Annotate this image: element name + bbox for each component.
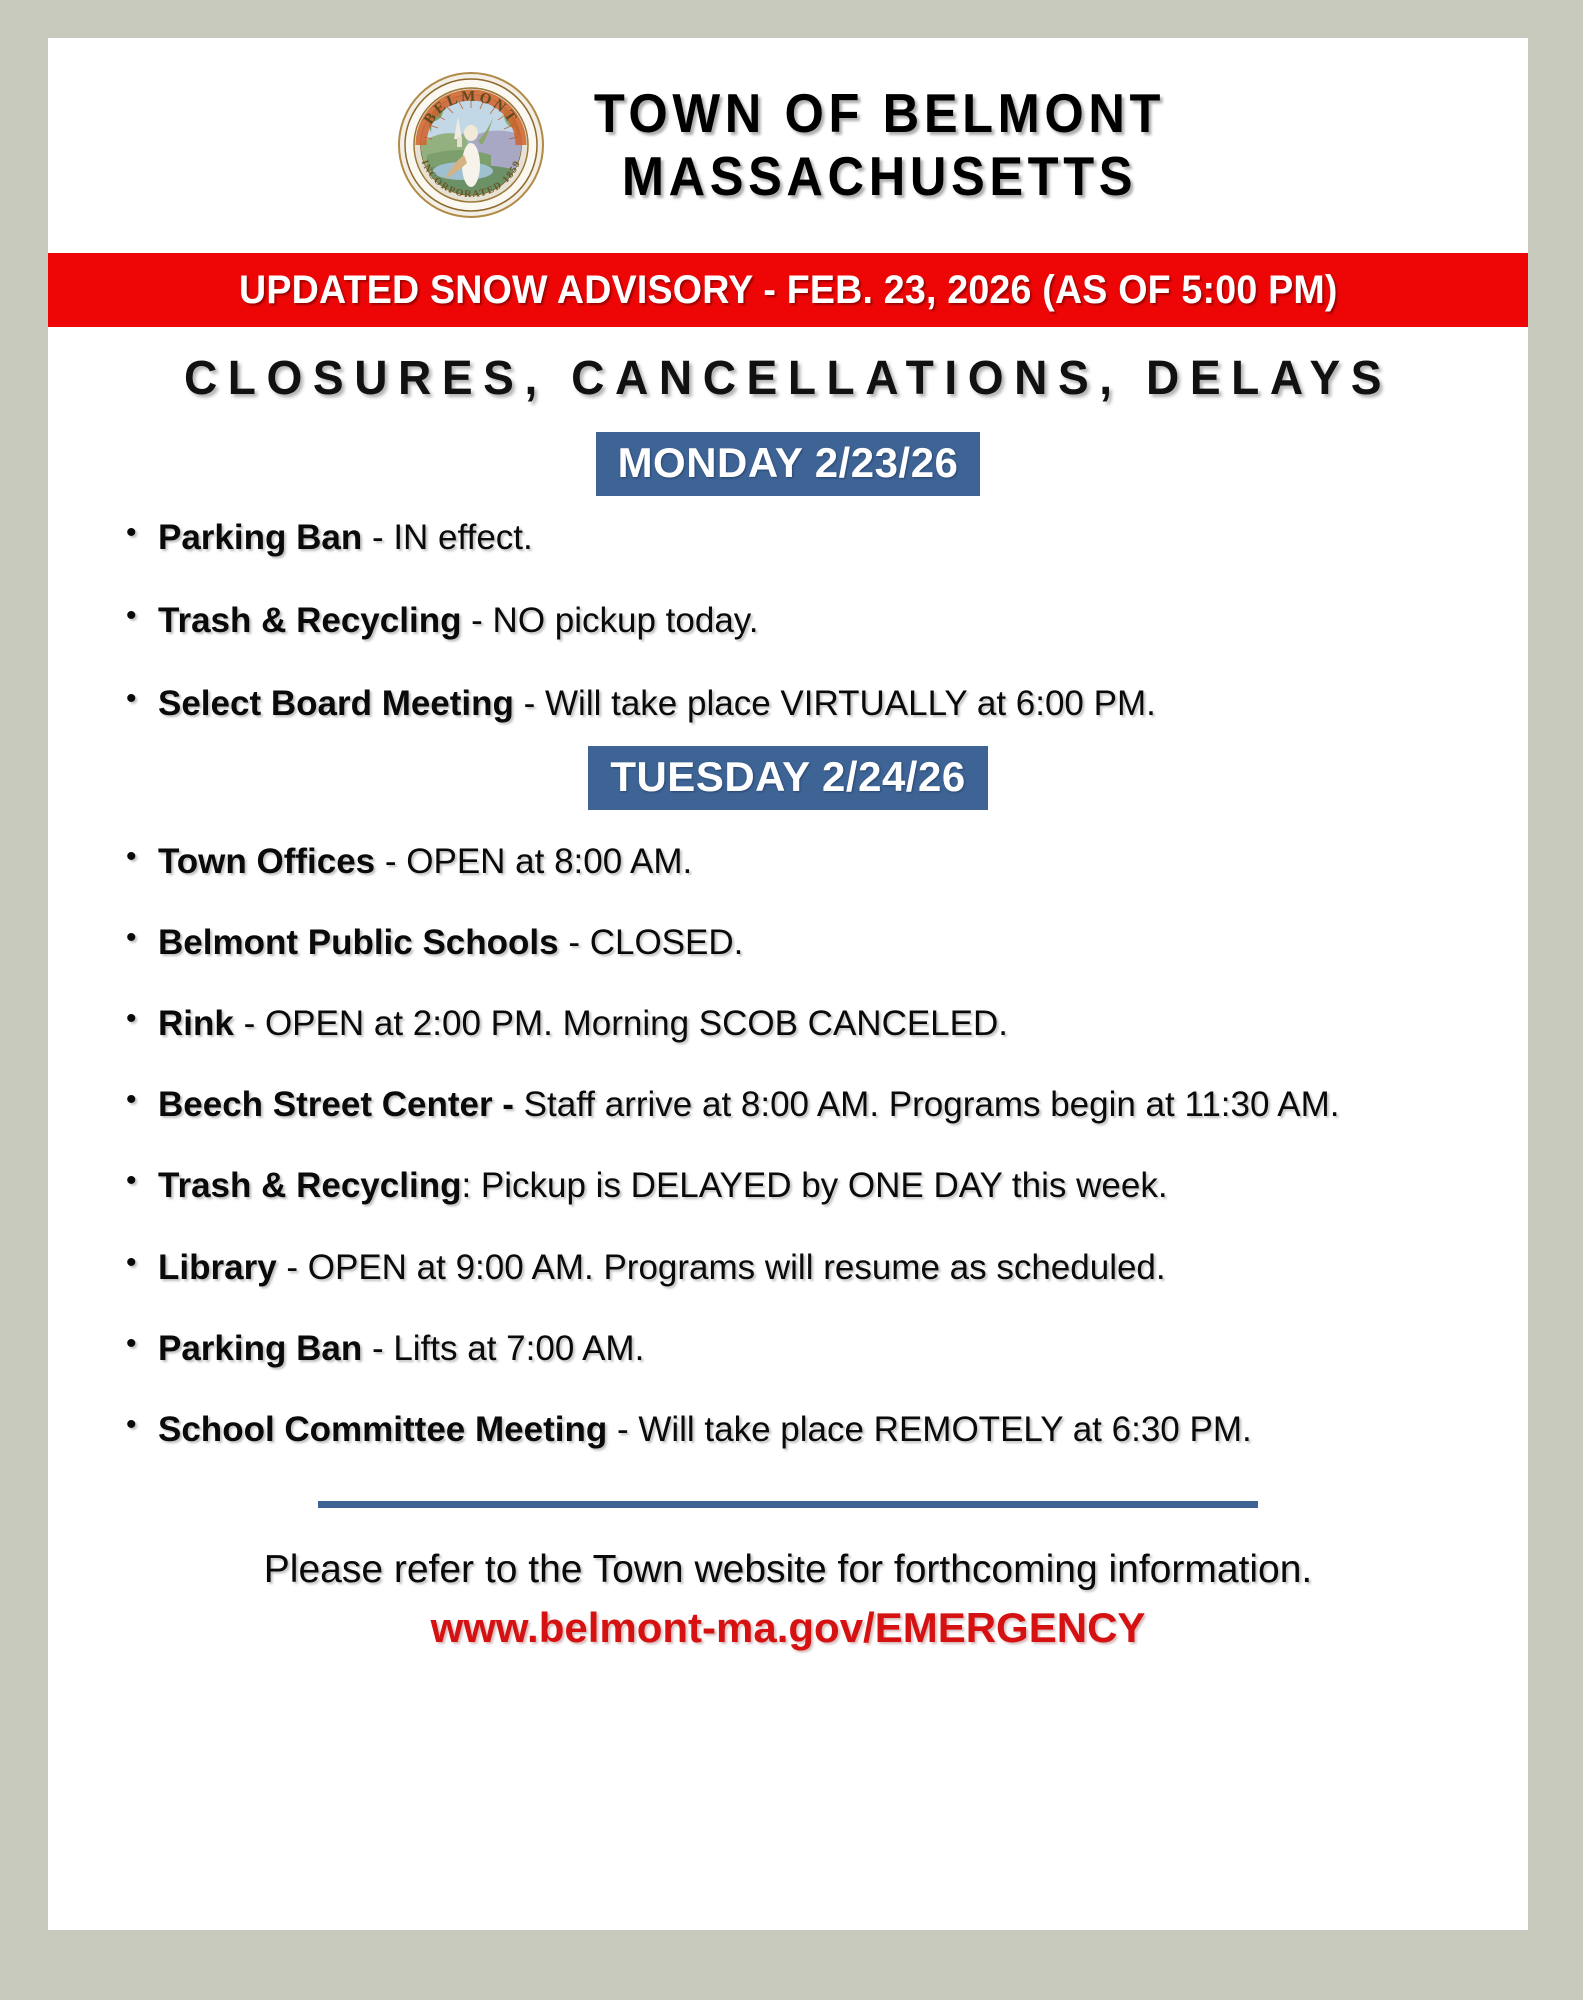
list-item-label: Trash & Recycling [158,601,461,640]
list-item: Select Board Meeting - Will take place V… [48,684,1528,723]
list-item-label: Town Offices [158,842,375,881]
page-title: TOWN OF BELMONT MASSACHUSETTS [569,84,1190,205]
list-item-label: Parking Ban [158,1329,362,1368]
day-banner-monday: MONDAY 2/23/26 [596,432,981,496]
list-item-label: Trash & Recycling [158,1166,461,1205]
list-item: Town Offices - OPEN at 8:00 AM. [48,842,1528,881]
list-item-detail: - CLOSED. [559,923,744,962]
list-item-detail: - Will take place VIRTUALLY at 6:00 PM. [514,684,1156,723]
footer-note: Please refer to the Town website for for… [48,1548,1528,1592]
advisory-poster: BELMONT INCORPORATED 1859 TOWN OF BELMON… [48,38,1528,1930]
list-item-detail: - IN effect. [362,518,533,557]
list-item: Trash & Recycling: Pickup is DELAYED by … [48,1166,1528,1205]
list-item-label: Parking Ban [158,518,362,557]
list-item: Belmont Public Schools - CLOSED. [48,923,1528,962]
section-divider [318,1501,1258,1508]
list-item-detail: : Pickup is DELAYED by ONE DAY this week… [461,1166,1167,1205]
title-line-state: MASSACHUSETTS [593,147,1164,205]
section-subtitle: CLOSURES, CANCELLATIONS, DELAYS [78,351,1499,406]
list-item-detail: - OPEN at 2:00 PM. Morning SCOB CANCELED… [234,1004,1008,1043]
tuesday-list: Town Offices - OPEN at 8:00 AM. Belmont … [48,842,1528,1450]
alert-banner: UPDATED SNOW ADVISORY - FEB. 23, 2026 (A… [48,253,1528,327]
list-item: Trash & Recycling - NO pickup today. [48,601,1528,640]
day-banner-monday-wrap: MONDAY 2/23/26 [48,432,1528,496]
divider-wrap [48,1501,1528,1508]
poster-header: BELMONT INCORPORATED 1859 TOWN OF BELMON… [48,38,1528,251]
list-item-detail: - NO pickup today. [461,601,758,640]
list-item: School Committee Meeting - Will take pla… [48,1410,1528,1449]
day-banner-tuesday: TUESDAY 2/24/26 [588,746,987,810]
list-item-detail: - OPEN at 9:00 AM. Programs will resume … [277,1248,1166,1287]
list-item-label: School Committee Meeting [158,1410,607,1449]
town-seal-icon: BELMONT INCORPORATED 1859 [397,71,545,219]
list-item-label: Library [158,1248,277,1287]
list-item-label: Select Board Meeting [158,684,514,723]
list-item: Library - OPEN at 9:00 AM. Programs will… [48,1248,1528,1287]
list-item-label: Rink [158,1004,234,1043]
list-item: Beech Street Center - Staff arrive at 8:… [48,1085,1528,1124]
list-item: Parking Ban - Lifts at 7:00 AM. [48,1329,1528,1368]
day-banner-tuesday-wrap: TUESDAY 2/24/26 [48,746,1528,810]
monday-list: Parking Ban - IN effect. Trash & Recycli… [48,518,1528,724]
title-line-town: TOWN OF BELMONT [593,84,1164,142]
list-item: Rink - OPEN at 2:00 PM. Morning SCOB CAN… [48,1004,1528,1043]
list-item-detail: - Will take place REMOTELY at 6:30 PM. [607,1410,1251,1449]
alert-banner-text: UPDATED SNOW ADVISORY - FEB. 23, 2026 (A… [239,268,1337,313]
list-item-label: Belmont Public Schools [158,923,559,962]
list-item: Parking Ban - IN effect. [48,518,1528,557]
poster-footer: Please refer to the Town website for for… [48,1548,1528,1652]
list-item-label: Beech Street Center - [158,1085,514,1124]
list-item-detail: - OPEN at 8:00 AM. [375,842,692,881]
emergency-url-link[interactable]: www.belmont-ma.gov/EMERGENCY [48,1604,1528,1652]
list-item-detail: - Lifts at 7:00 AM. [362,1329,644,1368]
list-item-detail: Staff arrive at 8:00 AM. Programs begin … [514,1085,1340,1124]
